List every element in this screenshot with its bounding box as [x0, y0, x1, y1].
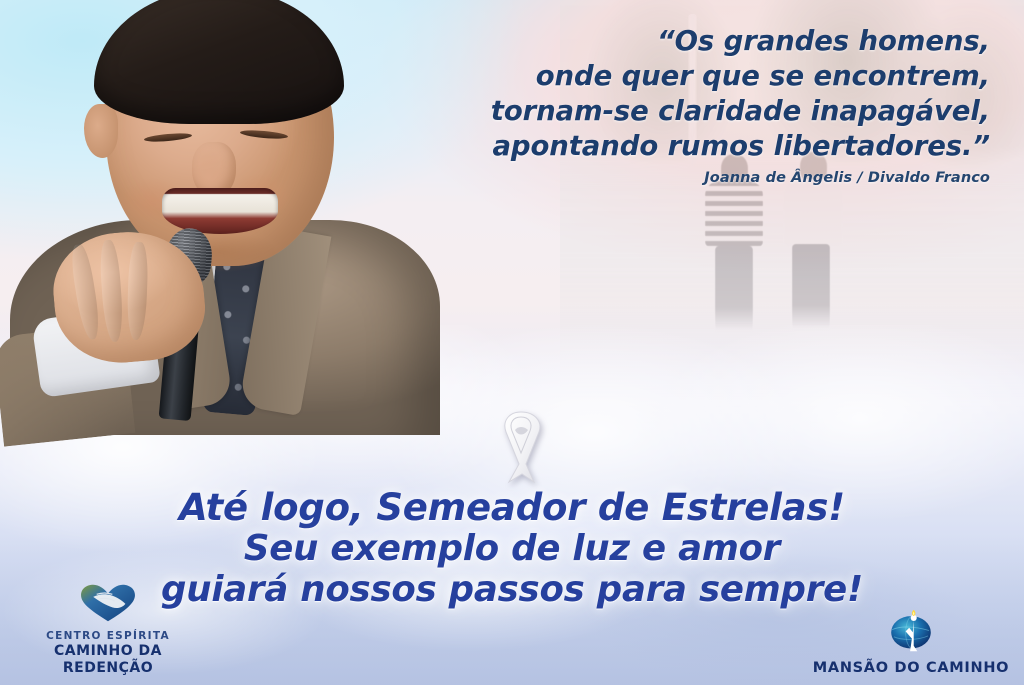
portrait-photo [10, 0, 440, 432]
ear [84, 104, 118, 158]
quote-block: “Os grandes homens, onde quer que se enc… [430, 24, 990, 164]
logo-centro-espirita[interactable]: CENTRO ESPÍRITA CAMINHO DA REDENÇÃO [8, 583, 208, 677]
quote-line-2: onde quer que se encontrem, [430, 59, 990, 94]
headline-line-2: Seu exemplo de luz e amor [0, 528, 1024, 569]
memorial-poster: “Os grandes homens, onde quer que se enc… [0, 0, 1024, 685]
logo-left-line-2: CAMINHO DA REDENÇÃO [8, 643, 208, 677]
globe-figure-flame-icon [806, 608, 1016, 657]
logo-right-line-1: MANSÃO DO CAMINHO [806, 660, 1016, 677]
quote-line-4: apontando rumos libertadores.” [430, 129, 990, 164]
quote-line-3: tornam-se claridade inapagável, [430, 94, 990, 129]
hair [94, 0, 344, 124]
logo-mansao-do-caminho[interactable]: MANSÃO DO CAMINHO [806, 608, 1016, 677]
quote-line-1: “Os grandes homens, [430, 24, 990, 59]
heart-hands-icon [8, 583, 208, 627]
headline-line-1: Até logo, Semeador de Estrelas! [0, 487, 1024, 528]
logo-left-line-1: CENTRO ESPÍRITA [8, 630, 208, 643]
mourning-ribbon-icon [489, 408, 553, 486]
quote-attribution: Joanna de Ângelis / Divaldo Franco [430, 170, 990, 186]
